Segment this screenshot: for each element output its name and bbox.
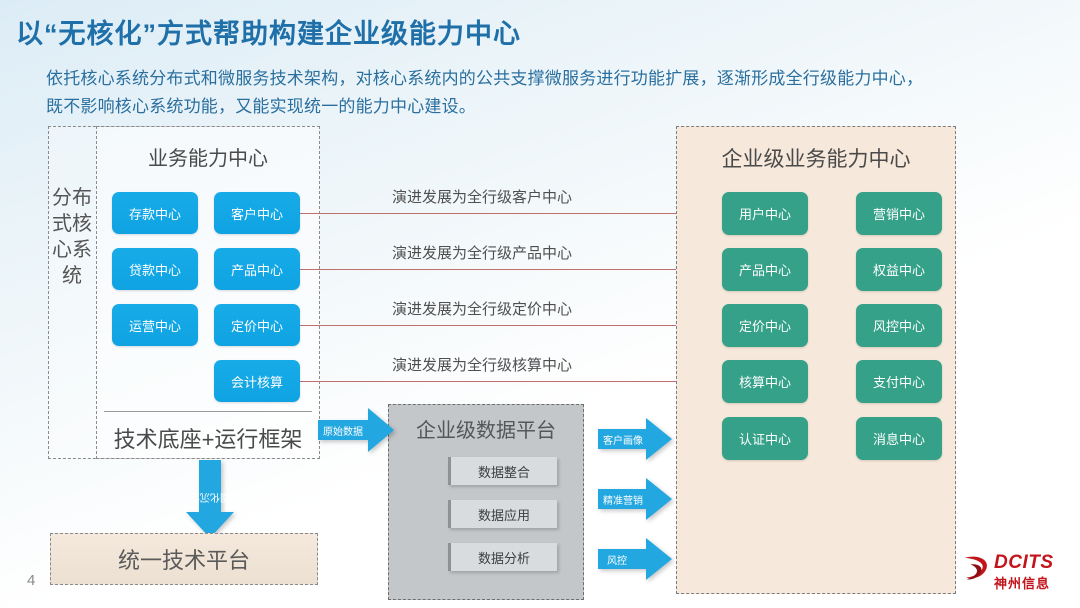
ent-chip-product-center[interactable]: 产品中心 [722, 248, 808, 291]
swoosh-icon [962, 554, 990, 584]
ent-chip-marketing-center[interactable]: 营销中心 [856, 192, 942, 235]
data-platform-item-integration[interactable]: 数据整合 [448, 457, 557, 485]
chip-customer-center[interactable]: 客户中心 [214, 192, 300, 234]
flow-line-3 [300, 325, 718, 326]
flow-label-1: 演进发展为全行级客户中心 [392, 186, 572, 207]
dcits-logo: DCITS 神州信息 [962, 552, 1074, 596]
subtitle-line-2: 既不影响核心系统功能，又能实现统一的能力中心建设。 [46, 93, 986, 121]
chip-product-center[interactable]: 产品中心 [214, 248, 300, 290]
data-platform-item-application[interactable]: 数据应用 [448, 500, 557, 528]
flow-line-2 [300, 269, 718, 270]
chip-accounting[interactable]: 会计核算 [214, 360, 300, 402]
chip-operation-center[interactable]: 运营中心 [112, 304, 198, 346]
ent-chip-message-center[interactable]: 消息中心 [856, 417, 942, 460]
ent-chip-risk-center[interactable]: 风控中心 [856, 304, 942, 347]
core-frame-divider [104, 411, 312, 412]
chip-pricing-center[interactable]: 定价中心 [214, 304, 300, 346]
enterprise-capability-center-title: 企业级业务能力中心 [676, 143, 956, 173]
ent-chip-auth-center[interactable]: 认证中心 [722, 417, 808, 460]
flow-line-1 [300, 213, 718, 214]
logo-text-en: DCITS [994, 552, 1054, 574]
ent-chip-user-center[interactable]: 用户中心 [722, 192, 808, 235]
page-title: 以“无核化”方式帮助构建企业级能力中心 [16, 12, 521, 51]
ent-chip-payment-center[interactable]: 支付中心 [856, 360, 942, 403]
block-arrow-raw-data: 原始数据 [318, 408, 394, 452]
logo-text-cn: 神州信息 [994, 573, 1050, 592]
tech-base-label: 技术底座+运行框架 [98, 418, 318, 458]
flow-line-4 [300, 381, 718, 382]
block-arrow-precision-marketing: 精准营销 [598, 478, 672, 520]
block-arrow-risk-control: 风控 [598, 538, 672, 580]
ent-chip-rights-center[interactable]: 权益中心 [856, 248, 942, 291]
page-subtitle: 依托核心系统分布式和微服务技术架构，对核心系统内的公共支撑微服务进行功能扩展，逐… [46, 65, 986, 121]
enterprise-data-platform-title: 企业级数据平台 [388, 414, 584, 443]
slide-canvas: 以“无核化”方式帮助构建企业级能力中心 依托核心系统分布式和微服务技术架构，对核… [0, 0, 1080, 608]
ent-chip-pricing-center[interactable]: 定价中心 [722, 304, 808, 347]
business-capability-center-title: 业务能力中心 [96, 142, 320, 171]
chip-deposit-center[interactable]: 存款中心 [112, 192, 198, 234]
flow-label-4: 演进发展为全行级核算中心 [392, 354, 572, 375]
block-arrow-customer-profile: 客户画像 [598, 418, 672, 460]
unified-tech-platform[interactable]: 统一技术平台 [50, 533, 318, 585]
ent-chip-accounting-center[interactable]: 核算中心 [722, 360, 808, 403]
block-arrow-solidify: 固化沉淀 [186, 460, 234, 538]
subtitle-line-1: 依托核心系统分布式和微服务技术架构，对核心系统内的公共支撑微服务进行功能扩展，逐… [46, 65, 986, 93]
business-capability-center-frame [96, 126, 320, 459]
flow-label-3: 演进发展为全行级定价中心 [392, 298, 572, 319]
data-platform-item-analysis[interactable]: 数据分析 [448, 543, 557, 571]
chip-loan-center[interactable]: 贷款中心 [112, 248, 198, 290]
page-number: 4 [27, 572, 35, 589]
distributed-core-system-label: 分布式核心系统 [50, 185, 94, 289]
flow-label-2: 演进发展为全行级产品中心 [392, 242, 572, 263]
